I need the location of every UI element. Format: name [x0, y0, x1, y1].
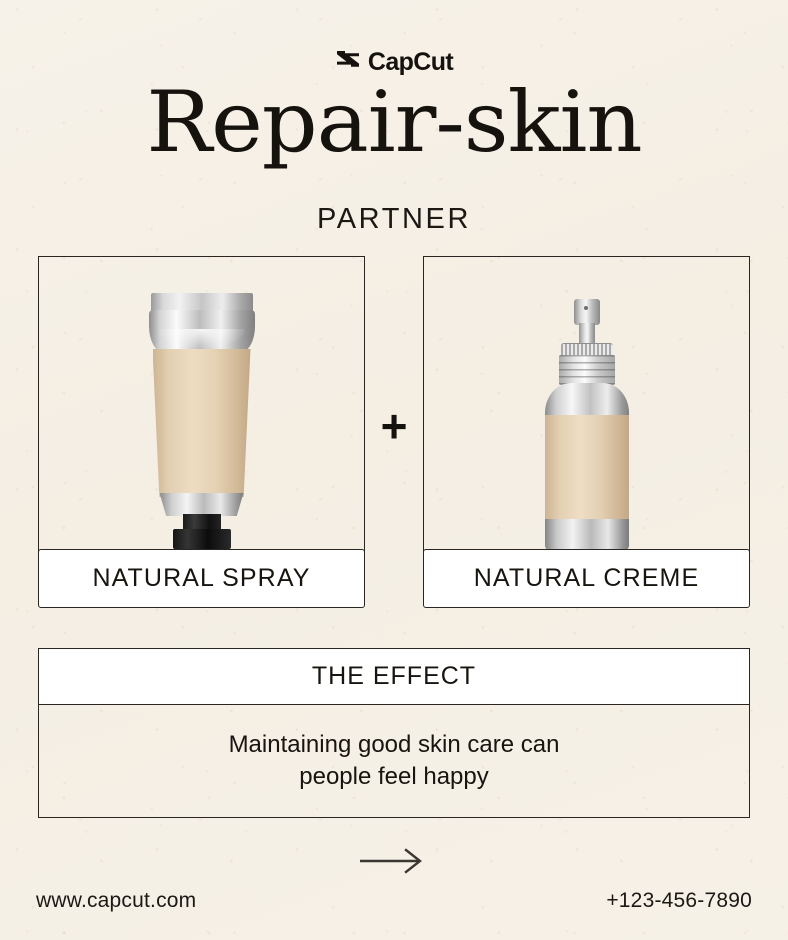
product-image-spray [424, 257, 749, 563]
spray-bottle-graphic [537, 299, 637, 551]
tube-body [153, 349, 251, 497]
tube-base [160, 493, 244, 516]
effect-body-card: Maintaining good skin care can people fe… [38, 705, 750, 818]
product-card-left[interactable] [38, 256, 365, 564]
footer-phone[interactable]: +123-456-7890 [606, 889, 752, 913]
poster-canvas: CapCut Repair-skin PARTNER + [0, 0, 788, 940]
effect-body-line-2: people feel happy [299, 763, 489, 790]
capcut-hourglass-icon [335, 50, 361, 75]
arrow-right-icon[interactable] [358, 848, 430, 879]
product-label-left-text: NATURAL SPRAY [92, 564, 310, 593]
tube-shoulder [149, 310, 255, 352]
plus-separator: + [381, 403, 408, 449]
spray-neck [559, 355, 615, 385]
product-label-right[interactable]: NATURAL CREME [423, 549, 750, 608]
brand-name: CapCut [368, 50, 453, 75]
effect-body-text: Maintaining good skin care can people fe… [229, 729, 560, 792]
effect-heading-text: THE EFFECT [312, 662, 476, 691]
tube-cap [173, 529, 231, 549]
product-label-left[interactable]: NATURAL SPRAY [38, 549, 365, 608]
footer-website[interactable]: www.capcut.com [36, 889, 196, 913]
product-image-tube [39, 257, 364, 563]
page-subtitle: PARTNER [0, 203, 788, 236]
brand-logo: CapCut [0, 50, 788, 75]
page-title: Repair-skin [0, 80, 788, 166]
footer: www.capcut.com +123-456-7890 [36, 889, 752, 913]
product-label-right-text: NATURAL CREME [474, 564, 699, 593]
spray-nozzle-tip [574, 299, 600, 325]
effect-body-line-1: Maintaining good skin care can [229, 731, 560, 758]
spray-nozzle-stem [579, 323, 595, 345]
spray-bottle-label [545, 415, 629, 519]
cosmetic-tube-graphic [143, 293, 261, 551]
product-card-right[interactable] [423, 256, 750, 564]
effect-heading-card: THE EFFECT [38, 648, 750, 705]
product-cards: + NATURAL SPRAY NATURAL CREME [38, 256, 750, 620]
spray-bottle-foot [545, 519, 629, 551]
